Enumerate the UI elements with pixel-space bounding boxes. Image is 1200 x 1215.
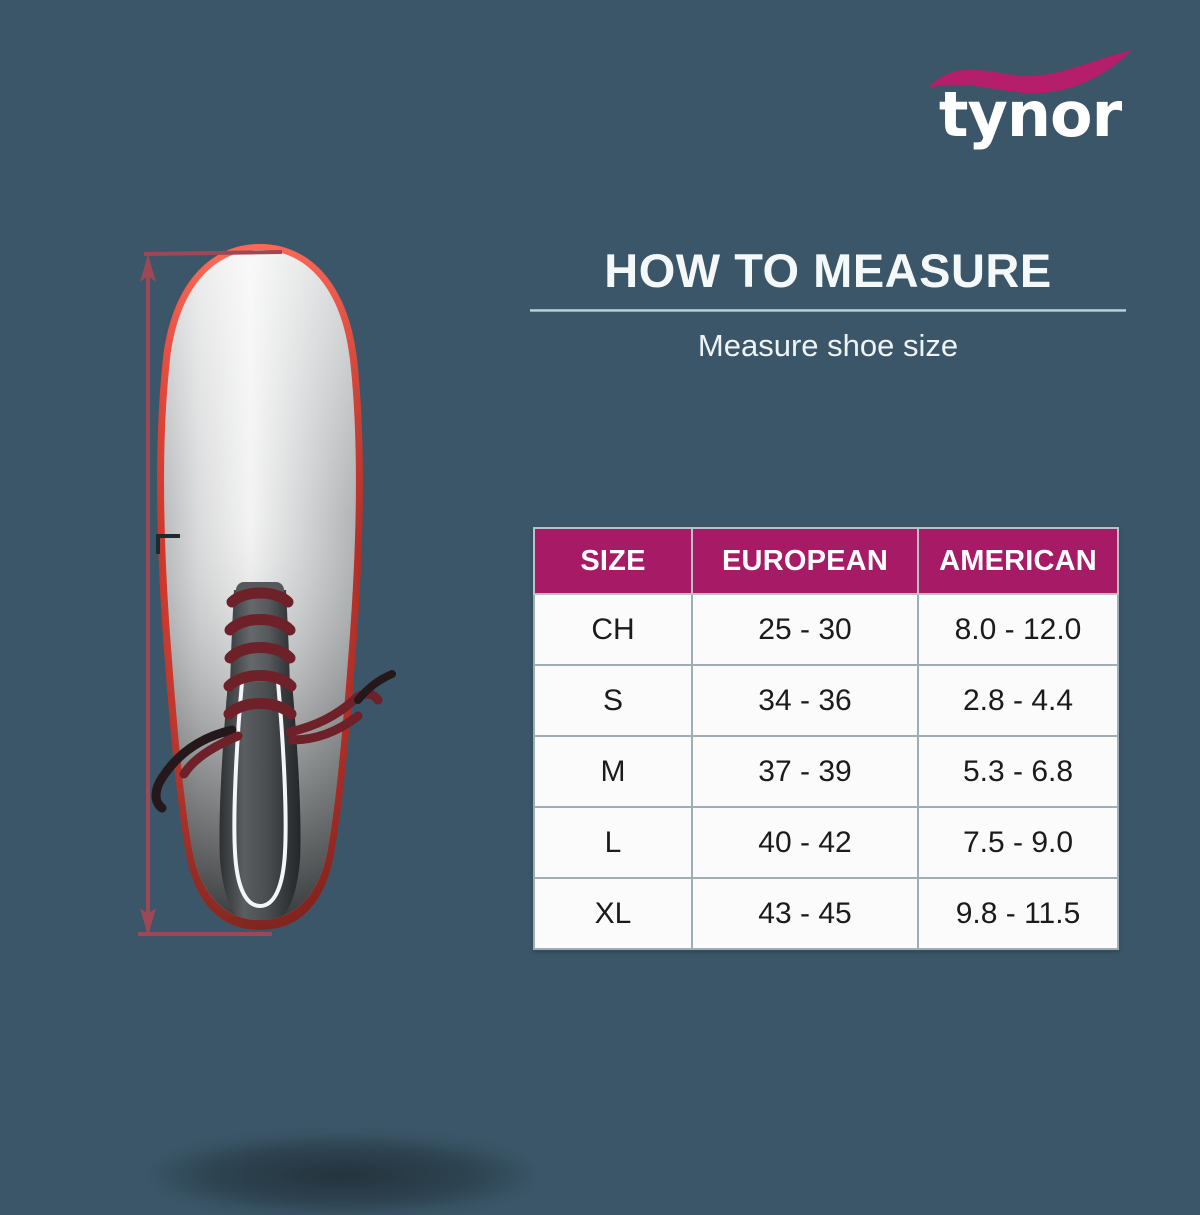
cell-size: M xyxy=(534,736,692,807)
shoe-drop-shadow xyxy=(155,1135,530,1215)
column-header-size: SIZE xyxy=(534,528,692,594)
cell-size: S xyxy=(534,665,692,736)
table-row: M 37 - 39 5.3 - 6.8 xyxy=(534,736,1118,807)
page-title: HOW TO MEASURE xyxy=(530,246,1126,295)
cell-european: 40 - 42 xyxy=(692,807,918,878)
heading-block: HOW TO MEASURE Measure shoe size xyxy=(530,246,1126,363)
measurement-guide-page: tynor HOW TO MEASURE Measure shoe size xyxy=(0,0,1200,1200)
column-header-american: AMERICAN xyxy=(918,528,1118,594)
table-row: XL 43 - 45 9.8 - 11.5 xyxy=(534,878,1118,949)
cell-size: CH xyxy=(534,594,692,665)
cell-size: XL xyxy=(534,878,692,949)
cell-european: 34 - 36 xyxy=(692,665,918,736)
page-subtitle: Measure shoe size xyxy=(530,329,1126,363)
table-row: CH 25 - 30 8.0 - 12.0 xyxy=(534,594,1118,665)
table-row: S 34 - 36 2.8 - 4.4 xyxy=(534,665,1118,736)
size-chart-table: SIZE EUROPEAN AMERICAN CH 25 - 30 8.0 - … xyxy=(533,527,1119,950)
title-divider xyxy=(530,309,1126,312)
cell-american: 8.0 - 12.0 xyxy=(918,594,1118,665)
cell-american: 7.5 - 9.0 xyxy=(918,807,1118,878)
shoe-illustration xyxy=(110,230,430,970)
column-header-european: EUROPEAN xyxy=(692,528,918,594)
cell-american: 2.8 - 4.4 xyxy=(918,665,1118,736)
cell-european: 25 - 30 xyxy=(692,594,918,665)
logo-wordmark: tynor xyxy=(920,84,1140,146)
table-header-row: SIZE EUROPEAN AMERICAN xyxy=(534,528,1118,594)
table-row: L 40 - 42 7.5 - 9.0 xyxy=(534,807,1118,878)
cell-american: 9.8 - 11.5 xyxy=(918,878,1118,949)
cell-european: 43 - 45 xyxy=(692,878,918,949)
brand-logo: tynor xyxy=(920,48,1140,168)
shoe-heel xyxy=(219,682,300,928)
cell-european: 37 - 39 xyxy=(692,736,918,807)
cell-american: 5.3 - 6.8 xyxy=(918,736,1118,807)
cell-size: L xyxy=(534,807,692,878)
